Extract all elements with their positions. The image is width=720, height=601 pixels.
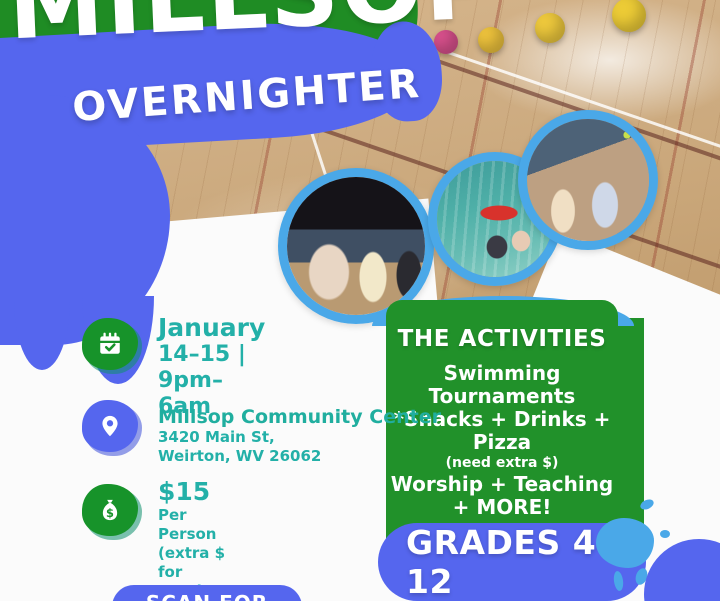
poster-title-main: MILLSOP (6, 0, 440, 53)
scan-qr-button[interactable]: SCAN FOR (112, 585, 302, 601)
location-text-block: Millsop Community Center 3420 Main St, W… (158, 406, 441, 466)
activity-item: + MORE! (386, 496, 618, 519)
activities-title: THE ACTIVITIES (386, 326, 618, 352)
green-panel-sliver (618, 318, 644, 530)
venue-name: Millsop Community Center (158, 406, 441, 428)
price-text-block: $15 Per Person (extra $ for snacks + dri… (158, 478, 227, 601)
money-bag-icon: $ (82, 484, 138, 536)
price-unit: Per Person (158, 506, 227, 544)
calendar-check-icon (82, 318, 138, 370)
activity-item: Worship + Teaching (386, 473, 618, 496)
price-amount: $15 (158, 478, 227, 506)
date-text-block: January 14–15 | 9pm–6am (158, 314, 265, 420)
paint-splatter (596, 518, 654, 568)
dodgeball (535, 13, 565, 43)
venue-citystate: Weirton, WV 26062 (158, 447, 441, 466)
activity-item: Tournaments (386, 385, 618, 408)
activity-item: Swimming (386, 362, 618, 385)
scan-button-label: SCAN FOR (146, 591, 268, 601)
paint-splatter-dot (660, 530, 670, 538)
venue-street: 3420 Main St, (158, 428, 441, 447)
location-pin-icon (82, 400, 138, 452)
photo-climbing-wall (518, 110, 658, 250)
date-heading: January (158, 314, 265, 342)
flyer-poster: MILLSOP OVERNIGHTER THE ACTIVITIES Swimm… (0, 0, 720, 601)
svg-text:$: $ (106, 506, 114, 520)
